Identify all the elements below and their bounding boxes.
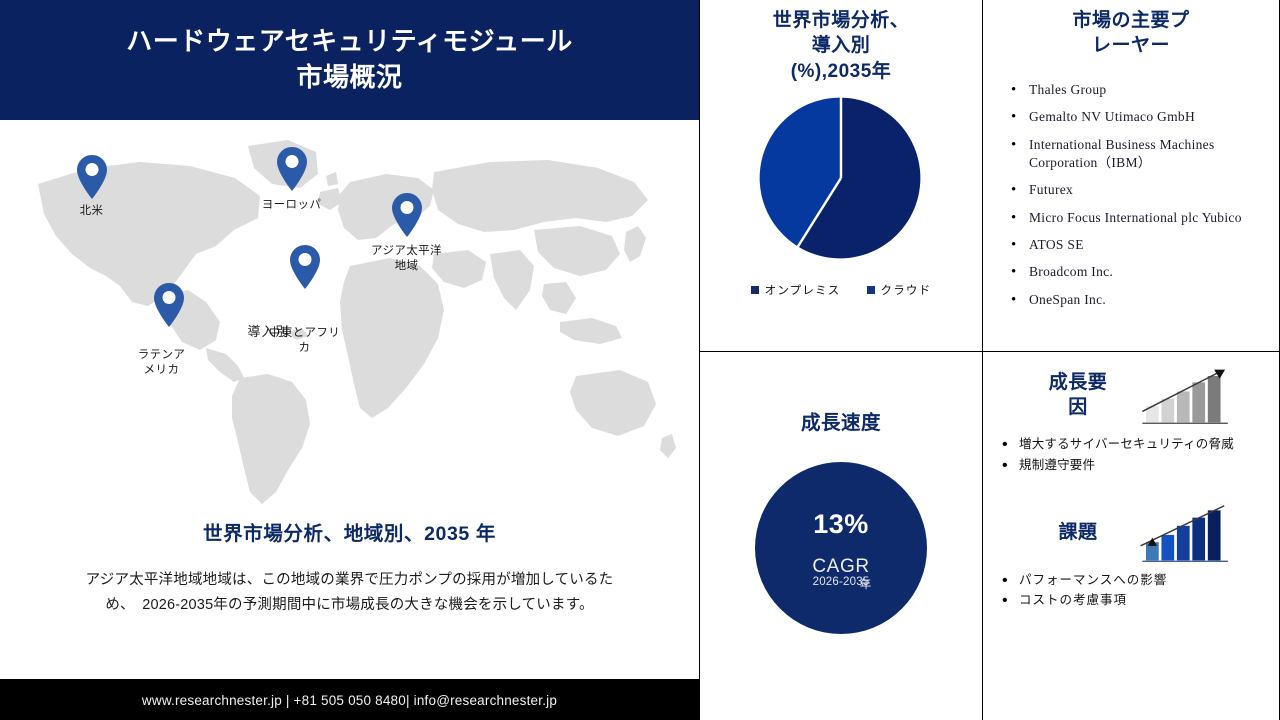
deployment-pie-panel: 世界市場分析、 導入別 (%),2035年 オンプレミス	[700, 0, 983, 352]
map-label-latin-america: ラテンアメリカ	[133, 348, 191, 377]
deployment-pie-title: 世界市場分析、 導入別 (%),2035年	[700, 0, 982, 84]
list-item: Futurex	[1009, 181, 1279, 199]
challenges-list: パフォーマンスへの影響 コストの考慮事項	[997, 572, 1279, 611]
page-title-line2: 市場概況	[126, 60, 573, 96]
growth-drivers-block: 成長要 因 増大するサイバーセキュリティの脅威	[983, 352, 1279, 475]
growth-drivers-list: 増大するサイバーセキュリティの脅威 規制遵守要件	[997, 436, 1279, 475]
map-overlap-label: 導入別	[248, 324, 290, 340]
pie-svg	[759, 96, 923, 260]
left-section-paragraph: アジア太平洋地域地域は、この地域の業界で圧力ポンプの採用が増加しているため、 2…	[85, 568, 615, 618]
left-column: ハードウェアセキュリティモジュール 市場概況	[0, 0, 700, 720]
world-map-shapes	[20, 126, 680, 511]
challenges-header: 課題	[983, 504, 1279, 564]
legend-label-on-premise: オンプレミス	[765, 282, 841, 298]
growth-drivers-title: 成長要 因	[1030, 371, 1126, 420]
deployment-pie-chart	[700, 96, 982, 260]
map-pin-latin-america[interactable]	[152, 282, 186, 328]
key-players-title-line1: 市場の主要プ	[1027, 8, 1235, 33]
cagr-years-suffix: 年	[860, 576, 872, 592]
growth-rate-panel: 成長速度 13% CAGR 2026-2035年	[700, 352, 983, 720]
left-body: 北米 ヨーロッパ アジア太平洋地域 中東とアフリカ ラテンアメリカ 導入別 世界…	[0, 120, 699, 680]
legend-swatch-icon	[867, 286, 875, 294]
page-title-line1: ハードウェアセキュリティモジュール	[126, 24, 573, 60]
map-label-europe: ヨーロッパ	[248, 198, 336, 213]
page-title: ハードウェアセキュリティモジュール 市場概況	[126, 24, 573, 96]
map-pin-north-america[interactable]	[75, 154, 109, 200]
list-item: Thales Group	[1009, 81, 1279, 99]
list-item: 規制遵守要件	[997, 457, 1279, 475]
cagr-label: CAGR	[812, 556, 869, 578]
list-item: コストの考慮事項	[997, 592, 1279, 610]
list-item: Broadcom Inc.	[1009, 263, 1279, 281]
growth-drivers-title-line1: 成長要	[1030, 371, 1126, 396]
growth-rate-title: 成長速度	[700, 410, 982, 436]
footer-contact-text: www.researchnester.jp | +81 505 050 8480…	[142, 693, 557, 708]
deployment-pie-title-line1: 世界市場分析、	[738, 8, 944, 33]
cagr-circle-chart: 13% CAGR 2026-2035年	[700, 462, 982, 634]
world-map: 北米 ヨーロッパ アジア太平洋地域 中東とアフリカ ラテンアメリカ 導入別	[20, 126, 680, 511]
growth-trend-bar-chart-icon	[1140, 366, 1232, 426]
key-players-title-line2: レーヤー	[1027, 33, 1235, 58]
key-players-list: Thales Group Gemalto NV Utimaco GmbH Int…	[1009, 81, 1279, 309]
map-pin-middle-east-africa[interactable]	[288, 244, 322, 290]
legend-item-cloud[interactable]: クラウド	[867, 282, 932, 298]
deployment-pie-title-line2: 導入別	[738, 33, 944, 58]
list-item: Gemalto NV Utimaco GmbH	[1009, 108, 1279, 126]
drivers-and-challenges-panel: 成長要 因 増大するサイバーセキュリティの脅威	[983, 352, 1280, 720]
challenges-block: 課題 パフォーマンスへの影響 コストの考慮事項	[983, 478, 1279, 611]
key-players-panel: 市場の主要プ レーヤー Thales Group Gemalto NV Utim…	[983, 0, 1280, 352]
cagr-years: 2026-2035年	[813, 576, 870, 588]
list-item: Micro Focus International plc Yubico	[1009, 209, 1279, 227]
header-band: ハードウェアセキュリティモジュール 市場概況	[0, 0, 699, 120]
challenges-title: 課題	[1030, 521, 1126, 546]
legend-item-on-premise[interactable]: オンプレミス	[751, 282, 841, 298]
map-label-north-america: 北米	[56, 204, 128, 219]
infographic-page: ハードウェアセキュリティモジュール 市場概況	[0, 0, 1280, 720]
legend-label-cloud: クラウド	[881, 282, 932, 298]
deployment-pie-title-line3: (%),2035年	[738, 59, 944, 84]
list-item: ATOS SE	[1009, 236, 1279, 254]
deployment-pie-legend: オンプレミス クラウド	[700, 282, 982, 298]
list-item: International Business Machines Corporat…	[1009, 136, 1279, 173]
challenges-bar-chart-icon	[1140, 504, 1232, 564]
list-item: OneSpan Inc.	[1009, 291, 1279, 309]
list-item: 増大するサイバーセキュリティの脅威	[997, 436, 1279, 454]
growth-drivers-title-line2: 因	[1030, 396, 1126, 421]
legend-swatch-icon	[751, 286, 759, 294]
cagr-percent: 13%	[813, 509, 869, 540]
list-item: パフォーマンスへの影響	[997, 572, 1279, 590]
map-pin-europe[interactable]	[275, 146, 309, 192]
footer-band: www.researchnester.jp | +81 505 050 8480…	[0, 680, 699, 720]
right-panels-grid: 世界市場分析、 導入別 (%),2035年 オンプレミス	[700, 0, 1280, 720]
growth-drivers-header: 成長要 因	[983, 366, 1279, 426]
map-pin-asia-pacific[interactable]	[390, 192, 424, 238]
cagr-circle: 13% CAGR 2026-2035年	[755, 462, 927, 634]
left-section-heading: 世界市場分析、地域別、2035 年	[203, 517, 496, 546]
map-label-asia-pacific: アジア太平洋地域	[371, 244, 443, 273]
key-players-title: 市場の主要プ レーヤー	[983, 0, 1279, 59]
